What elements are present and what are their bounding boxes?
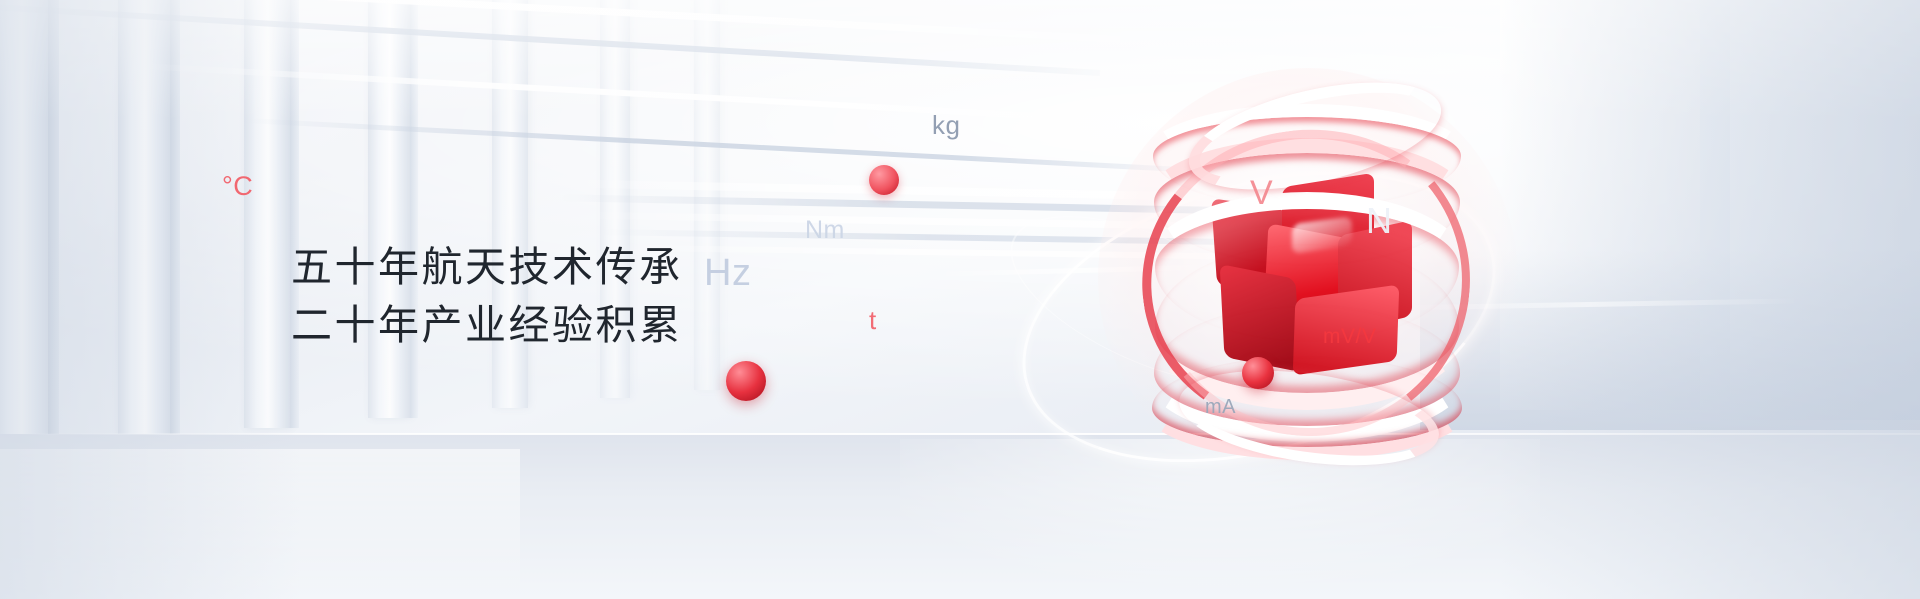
- unit-label-newton-meter: Nm: [805, 216, 845, 245]
- hero-banner: 五十年航天技术传承 二十年产业经验积累: [0, 0, 1920, 599]
- unit-label-milliamp: mA: [1205, 396, 1236, 419]
- unit-label-kilogram: kg: [932, 110, 960, 141]
- page-title: 五十年航天技术传承 二十年产业经验积累: [291, 238, 683, 354]
- accent-dot-lower-left: [726, 361, 766, 401]
- unit-label-celsius: °C: [222, 171, 253, 202]
- unit-label-millivolt-per-volt: mV/V: [1323, 325, 1376, 349]
- accent-dot-lower-right: [1242, 357, 1274, 389]
- unit-label-hertz: Hz: [704, 252, 751, 295]
- accent-dot-upper-left: [869, 165, 899, 195]
- background-architecture: [0, 0, 1920, 599]
- left-vignette: [0, 0, 300, 599]
- unit-label-volt: V: [1250, 174, 1273, 213]
- measurement-sphere: [1150, 108, 1464, 448]
- unit-label-newton: N: [1366, 200, 1393, 242]
- headline-line-2: 二十年产业经验积累: [291, 296, 683, 354]
- headline-line-1: 五十年航天技术传承: [291, 238, 683, 296]
- unit-label-tonne: t: [869, 305, 877, 336]
